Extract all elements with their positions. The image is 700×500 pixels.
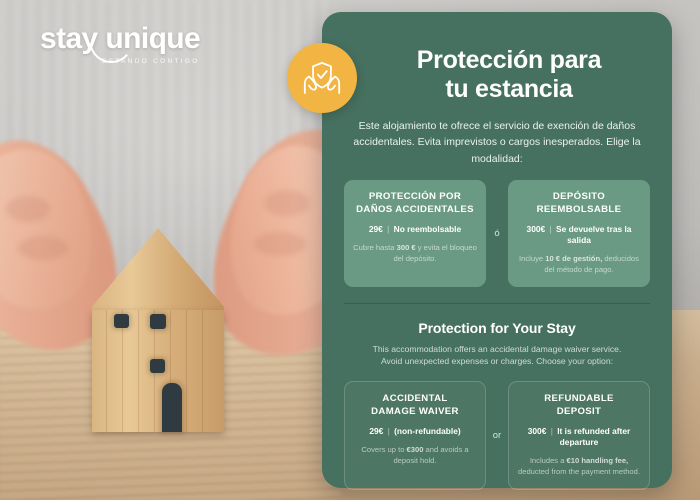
option-price-separator: | bbox=[551, 426, 553, 436]
option-conjunction-es: ó bbox=[486, 228, 508, 239]
option-title-line-2: DAMAGE WAIVER bbox=[353, 406, 477, 419]
option-title: PROTECCIÓN POR DAÑOS ACCIDENTALES bbox=[352, 191, 478, 217]
option-note: Includes a €10 handling fee, deducted fr… bbox=[517, 455, 641, 477]
knuckle-shadow bbox=[264, 190, 310, 216]
page-title-line-2: tu estancia bbox=[366, 75, 652, 104]
option-note: Incluye 10 € de gestión, deducidos del m… bbox=[516, 253, 642, 275]
option-title-line-2: DAÑOS ACCIDENTALES bbox=[352, 204, 478, 217]
option-card-refundable-deposit-es[interactable]: DEPÓSITO REEMBOLSABLE 300€ | Se devuelve… bbox=[508, 180, 650, 287]
house-window bbox=[114, 314, 129, 328]
option-note-strong: €10 handling fee, bbox=[567, 456, 629, 465]
option-note: Covers up to €300 and avoids a deposit h… bbox=[353, 444, 477, 466]
option-card-damage-waiver-en[interactable]: ACCIDENTAL DAMAGE WAIVER 29€ | (non-refu… bbox=[344, 381, 486, 490]
option-title-line-1: DEPÓSITO bbox=[516, 191, 642, 204]
option-price-amount: 29€ bbox=[369, 224, 383, 234]
option-price-amount: 300€ bbox=[528, 426, 547, 436]
option-price-amount: 300€ bbox=[527, 224, 546, 234]
option-price: 29€ | (non-refundable) bbox=[353, 426, 477, 437]
option-conjunction-en: or bbox=[486, 430, 508, 441]
option-price-condition: Se devuelve tras la salida bbox=[556, 224, 631, 245]
option-price-amount: 29€ bbox=[369, 426, 383, 436]
option-price: 300€ | Se devuelve tras la salida bbox=[516, 224, 642, 246]
protection-panel: Protección para tu estancia Este alojami… bbox=[322, 12, 672, 488]
page-title-en: Protection for Your Stay bbox=[342, 320, 652, 336]
option-title: REFUNDABLE DEPOSIT bbox=[517, 393, 641, 419]
option-note-strong: 300 € bbox=[397, 243, 416, 252]
option-note-prefix: Cubre hasta bbox=[353, 243, 396, 252]
option-price-condition: It is refunded after departure bbox=[557, 426, 630, 447]
knuckle-shadow bbox=[6, 196, 50, 222]
house-window bbox=[150, 359, 165, 373]
option-price-separator: | bbox=[550, 224, 552, 234]
option-price-separator: | bbox=[387, 224, 389, 234]
shield-check-in-hands-icon bbox=[300, 56, 344, 100]
knuckle-shadow bbox=[254, 232, 306, 256]
page-title: Protección para tu estancia bbox=[342, 46, 652, 104]
wooden-house bbox=[92, 228, 224, 432]
intro-text-es: Este alojamiento te ofrece el servicio d… bbox=[352, 118, 642, 167]
option-note: Cubre hasta 300 € y evita el bloqueo del… bbox=[352, 242, 478, 264]
option-note-suffix: deducted from the payment method. bbox=[518, 467, 640, 476]
option-note-prefix: Covers up to bbox=[361, 445, 406, 454]
option-title-line-1: REFUNDABLE bbox=[517, 393, 641, 406]
page-title-line-1: Protección para bbox=[366, 46, 652, 75]
option-title-line-1: PROTECCIÓN POR bbox=[352, 191, 478, 204]
options-row-en: ACCIDENTAL DAMAGE WAIVER 29€ | (non-refu… bbox=[342, 381, 652, 490]
option-title-line-1: ACCIDENTAL bbox=[353, 393, 477, 406]
option-card-refundable-deposit-en[interactable]: REFUNDABLE DEPOSIT 300€ | It is refunded… bbox=[508, 381, 650, 490]
option-price-condition: No reembolsable bbox=[394, 224, 462, 234]
promo-graphic: stay unique ESTANDO CONTIGO Protección p… bbox=[0, 0, 700, 500]
brand-logo: stay unique ESTANDO CONTIGO bbox=[40, 24, 210, 65]
option-title-line-2: REEMBOLSABLE bbox=[516, 204, 642, 217]
option-title: DEPÓSITO REEMBOLSABLE bbox=[516, 191, 642, 217]
option-price-separator: | bbox=[388, 426, 390, 436]
house-window bbox=[150, 314, 166, 329]
option-card-damage-waiver-es[interactable]: PROTECCIÓN POR DAÑOS ACCIDENTALES 29€ | … bbox=[344, 180, 486, 287]
option-price: 29€ | No reembolsable bbox=[352, 224, 478, 235]
option-price: 300€ | It is refunded after departure bbox=[517, 426, 641, 448]
section-divider bbox=[344, 303, 650, 304]
shield-check-in-hands-badge bbox=[287, 43, 357, 113]
option-note-strong: €300 bbox=[407, 445, 424, 454]
house-door bbox=[162, 383, 182, 432]
knuckle-shadow bbox=[18, 236, 68, 260]
option-title-line-2: DEPOSIT bbox=[517, 406, 641, 419]
option-note-prefix: Includes a bbox=[530, 456, 567, 465]
option-note-prefix: Incluye bbox=[519, 254, 545, 263]
intro-text-en: This accommodation offers an accidental … bbox=[362, 343, 632, 369]
option-title: ACCIDENTAL DAMAGE WAIVER bbox=[353, 393, 477, 419]
options-row-es: PROTECCIÓN POR DAÑOS ACCIDENTALES 29€ | … bbox=[342, 180, 652, 287]
option-price-condition: (non-refundable) bbox=[394, 426, 461, 436]
option-note-strong: 10 € de gestión, bbox=[545, 254, 602, 263]
